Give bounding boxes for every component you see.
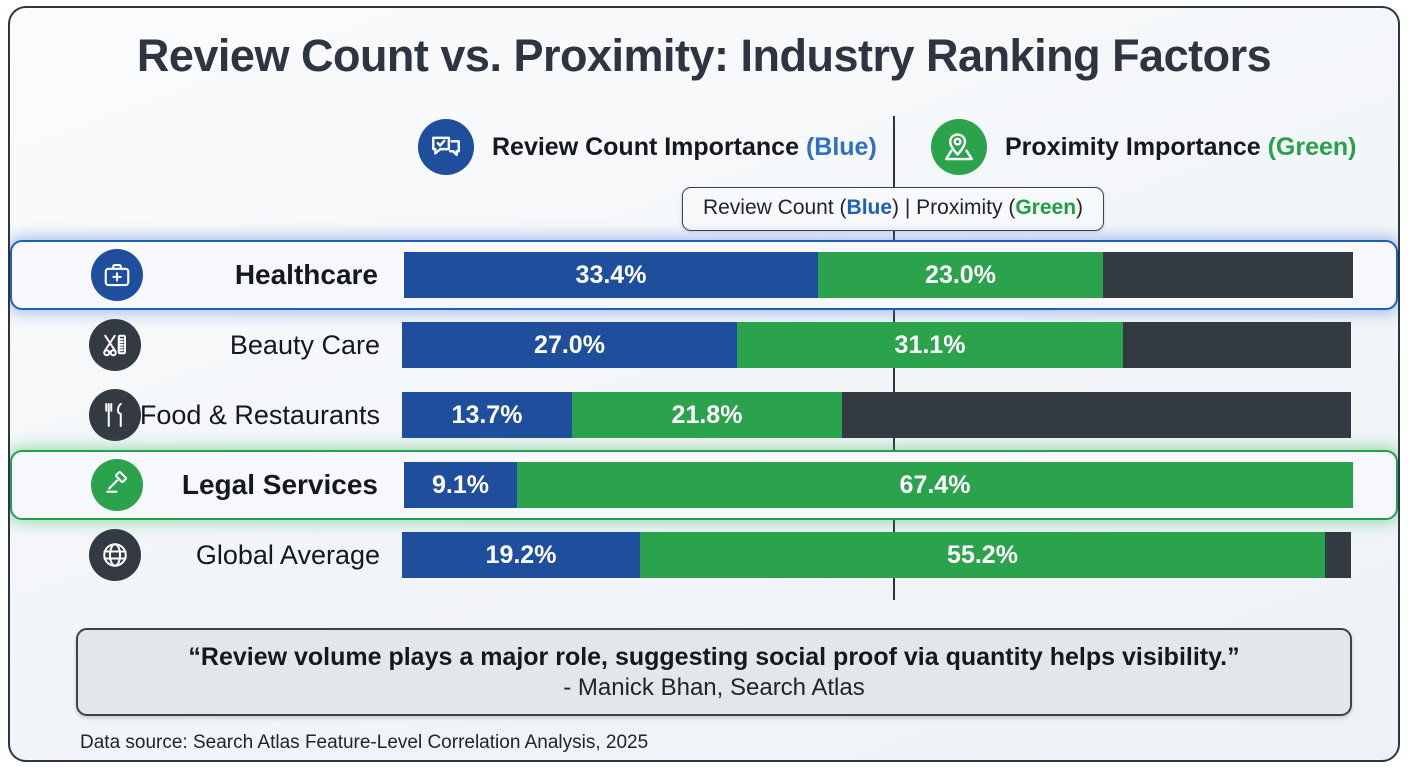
legend: Review Count Importance (Blue) Proximity… <box>10 116 1398 178</box>
table-row[interactable]: Beauty Care27.0%31.1% <box>10 310 1398 380</box>
table-row[interactable]: Legal Services9.1%67.4% <box>10 450 1398 520</box>
map-pin-location-icon <box>931 119 987 175</box>
bar-segment-review-count: 9.1% <box>404 462 517 508</box>
bar-segment-review-count: 19.2% <box>402 532 640 578</box>
globe-icon <box>89 529 141 581</box>
quote-attribution: - Manick Bhan, Search Atlas <box>563 674 864 702</box>
page-title: Review Count vs. Proximity: Industry Ran… <box>10 30 1398 82</box>
sublegend-pill: Review Count (Blue) | Proximity (Green) <box>682 187 1104 231</box>
quote-box: “Review volume plays a major role, sugge… <box>76 628 1352 716</box>
sublegend-green: Green <box>1015 196 1076 219</box>
table-row[interactable]: Global Average19.2%55.2% <box>10 520 1398 590</box>
legend-item-proximity: Proximity Importance (Green) <box>931 116 1356 178</box>
sublegend-pre: Review Count ( <box>703 196 847 219</box>
row-label: Beauty Care <box>230 330 380 361</box>
bar-segment-proximity: 31.1% <box>737 322 1123 368</box>
infographic-card: Review Count vs. Proximity: Industry Ran… <box>8 6 1400 762</box>
data-source-footer: Data source: Search Atlas Feature-Level … <box>80 732 648 754</box>
gavel-icon <box>91 459 143 511</box>
bar-segment-review-count: 27.0% <box>402 322 737 368</box>
row-label: Global Average <box>196 540 380 571</box>
bar-segment-review-count: 33.4% <box>404 252 818 298</box>
table-row[interactable]: Healthcare33.4%23.0% <box>10 240 1398 310</box>
bar-track: 27.0%31.1% <box>402 322 1351 368</box>
bar-segment-review-count: 13.7% <box>402 392 572 438</box>
legend-item-review-count: Review Count Importance (Blue) <box>418 116 877 178</box>
sublegend-blue: Blue <box>847 196 893 219</box>
legend-keyword-blue: (Blue) <box>806 133 877 161</box>
sublegend-mid: ) | Proximity ( <box>892 196 1015 219</box>
scissors-comb-icon <box>89 319 141 371</box>
bar-segment-proximity: 67.4% <box>517 462 1353 508</box>
bar-segment-proximity: 23.0% <box>818 252 1103 298</box>
table-row[interactable]: Food & Restaurants13.7%21.8% <box>10 380 1398 450</box>
medical-bag-icon <box>91 249 143 301</box>
row-label: Healthcare <box>235 259 378 291</box>
row-label: Food & Restaurants <box>140 400 380 431</box>
legend-keyword-green: (Green) <box>1268 133 1357 161</box>
bar-track: 13.7%21.8% <box>402 392 1351 438</box>
legend-label-proximity: Proximity Importance (Green) <box>1005 133 1356 162</box>
chart-rows: Healthcare33.4%23.0%Beauty Care27.0%31.1… <box>10 240 1398 590</box>
legend-label-review-count: Review Count Importance (Blue) <box>492 133 877 162</box>
bar-segment-proximity: 21.8% <box>572 392 842 438</box>
fork-knife-icon <box>89 389 141 441</box>
bar-segment-proximity: 55.2% <box>640 532 1325 578</box>
bar-track: 19.2%55.2% <box>402 532 1351 578</box>
bar-track: 9.1%67.4% <box>404 462 1353 508</box>
quote-text: “Review volume plays a major role, sugge… <box>188 643 1239 672</box>
row-label: Legal Services <box>182 469 378 501</box>
bar-track: 33.4%23.0% <box>404 252 1353 298</box>
sublegend-post: ) <box>1076 196 1083 219</box>
review-chat-check-icon <box>418 119 474 175</box>
